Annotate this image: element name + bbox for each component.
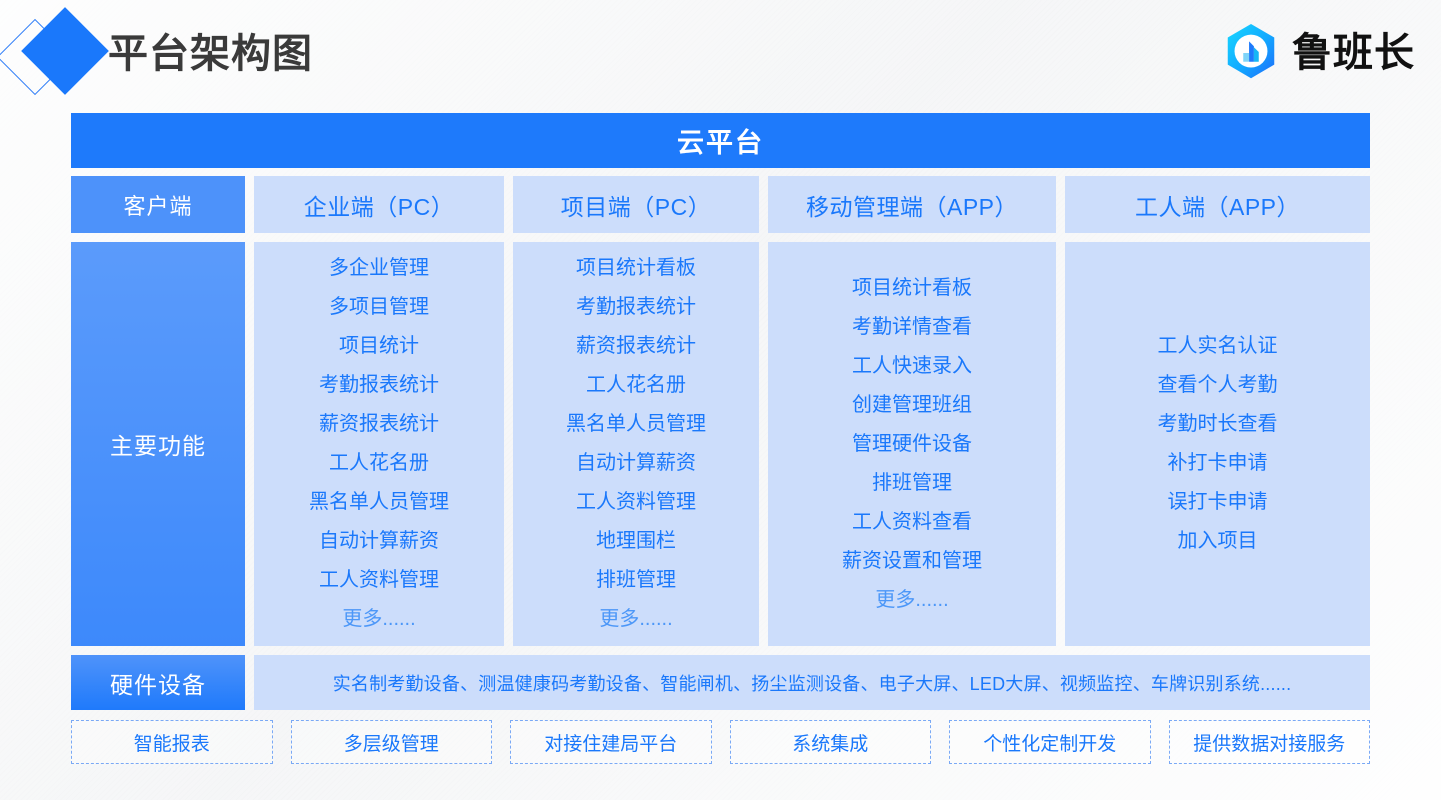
feature-item: 地理围栏 — [596, 522, 676, 561]
title-block: 平台架构图 — [0, 14, 313, 94]
feature-card-row: 多企业管理 多项目管理 项目统计 考勤报表统计 薪资报表统计 工人花名册 黑名单… — [254, 242, 1370, 646]
column-header-row: 企业端（PC） 项目端（PC） 移动管理端（APP） 工人端（APP） — [254, 176, 1370, 233]
feature-item-more: 更多...... — [342, 600, 415, 639]
service-tag-system-integration[interactable]: 系统集成 — [730, 720, 932, 764]
page-title: 平台架构图 — [108, 34, 313, 74]
feature-item-more: 更多...... — [875, 581, 948, 620]
feature-item: 考勤报表统计 — [576, 288, 696, 327]
service-tag-multilevel-management[interactable]: 多层级管理 — [291, 720, 493, 764]
feature-item: 误打卡申请 — [1168, 483, 1268, 522]
column-header-enterprise[interactable]: 企业端（PC） — [254, 176, 504, 233]
feature-item-more: 更多...... — [599, 600, 672, 639]
feature-item: 自动计算薪资 — [576, 444, 696, 483]
feature-item: 多项目管理 — [329, 288, 429, 327]
service-tag-housing-bureau-platform[interactable]: 对接住建局平台 — [510, 720, 712, 764]
row-label-functions: 主要功能 — [71, 242, 245, 646]
feature-item: 薪资设置和管理 — [842, 542, 982, 581]
column-header-worker[interactable]: 工人端（APP） — [1065, 176, 1370, 233]
feature-item: 排班管理 — [596, 561, 676, 600]
feature-item: 薪资报表统计 — [319, 405, 439, 444]
feature-item: 补打卡申请 — [1168, 444, 1268, 483]
service-tag-custom-development[interactable]: 个性化定制开发 — [949, 720, 1151, 764]
architecture-slide: 平台架构图 鲁班长 云平台 — [0, 0, 1441, 800]
service-tag-row: 智能报表 多层级管理 对接住建局平台 系统集成 个性化定制开发 提供数据对接服务 — [71, 720, 1370, 764]
diamond-logo-icon — [6, 14, 110, 94]
feature-item: 多企业管理 — [329, 249, 429, 288]
row-label-hardware: 硬件设备 — [71, 655, 245, 710]
feature-item: 考勤详情查看 — [852, 308, 972, 347]
feature-item: 工人花名册 — [586, 366, 686, 405]
feature-item: 项目统计看板 — [852, 269, 972, 308]
feature-item: 黑名单人员管理 — [566, 405, 706, 444]
feature-item: 创建管理班组 — [852, 386, 972, 425]
service-tag-smart-report[interactable]: 智能报表 — [71, 720, 273, 764]
feature-item: 加入项目 — [1178, 522, 1258, 561]
feature-item: 工人资料管理 — [319, 561, 439, 600]
feature-card-project: 项目统计看板 考勤报表统计 薪资报表统计 工人花名册 黑名单人员管理 自动计算薪… — [513, 242, 759, 646]
page-header: 平台架构图 鲁班长 — [0, 0, 1441, 108]
hardware-devices-text: 实名制考勤设备、测温健康码考勤设备、智能闸机、扬尘监测设备、电子大屏、LED大屏… — [254, 655, 1370, 710]
service-tag-data-interface-service[interactable]: 提供数据对接服务 — [1169, 720, 1371, 764]
feature-item: 工人快速录入 — [852, 347, 972, 386]
feature-item: 排班管理 — [872, 464, 952, 503]
brand-name: 鲁班长 — [1292, 33, 1415, 73]
cloud-platform-banner: 云平台 — [71, 113, 1370, 168]
hexagon-building-icon — [1220, 22, 1282, 84]
column-header-mobile-admin[interactable]: 移动管理端（APP） — [768, 176, 1056, 233]
feature-item: 工人实名认证 — [1158, 327, 1278, 366]
column-header-project[interactable]: 项目端（PC） — [513, 176, 759, 233]
feature-card-enterprise: 多企业管理 多项目管理 项目统计 考勤报表统计 薪资报表统计 工人花名册 黑名单… — [254, 242, 504, 646]
feature-card-mobile-admin: 项目统计看板 考勤详情查看 工人快速录入 创建管理班组 管理硬件设备 排班管理 … — [768, 242, 1056, 646]
feature-item: 查看个人考勤 — [1158, 366, 1278, 405]
diagram-content-column: 企业端（PC） 项目端（PC） 移动管理端（APP） 工人端（APP） 多企业管… — [254, 176, 1370, 710]
architecture-diagram: 云平台 客户端 主要功能 硬件设备 企业端（PC） 项目端（PC） 移动管理端（… — [71, 113, 1370, 764]
feature-item: 自动计算薪资 — [319, 522, 439, 561]
feature-item: 工人花名册 — [329, 444, 429, 483]
feature-item: 项目统计 — [339, 327, 419, 366]
feature-item: 黑名单人员管理 — [309, 483, 449, 522]
brand-block: 鲁班长 — [1220, 22, 1415, 84]
row-label-clients: 客户端 — [71, 176, 245, 233]
row-label-column: 客户端 主要功能 硬件设备 — [71, 176, 245, 710]
feature-item: 薪资报表统计 — [576, 327, 696, 366]
feature-item: 工人资料管理 — [576, 483, 696, 522]
diagram-body: 客户端 主要功能 硬件设备 企业端（PC） 项目端（PC） 移动管理端（APP）… — [71, 176, 1370, 710]
feature-item: 工人资料查看 — [852, 503, 972, 542]
feature-card-worker: 工人实名认证 查看个人考勤 考勤时长查看 补打卡申请 误打卡申请 加入项目 — [1065, 242, 1370, 646]
feature-item: 管理硬件设备 — [852, 425, 972, 464]
feature-item: 考勤报表统计 — [319, 366, 439, 405]
feature-item: 项目统计看板 — [576, 249, 696, 288]
feature-item: 考勤时长查看 — [1158, 405, 1278, 444]
